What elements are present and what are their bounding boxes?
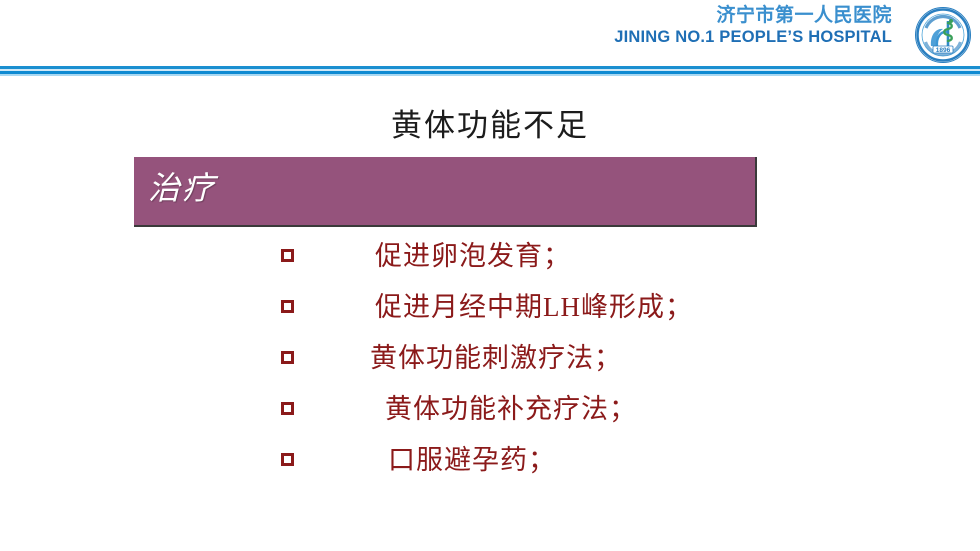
list-item: 黄体功能刺激疗法； — [0, 338, 980, 389]
hospital-name-english: JINING NO.1 PEOPLE’S HOSPITAL — [614, 29, 892, 46]
list-item: 黄体功能补充疗法； — [0, 389, 980, 440]
list-item-label: 促进月经中期LH峰形成； — [375, 287, 693, 327]
treatment-list: 促进卵泡发育； 促进月经中期LH峰形成； 黄体功能刺激疗法； 黄体功能补充疗法；… — [0, 236, 980, 491]
list-item: 口服避孕药； — [0, 440, 980, 491]
list-item-label: 黄体功能刺激疗法； — [370, 338, 622, 378]
treatment-section-banner: 治疗 — [134, 157, 757, 227]
hospital-name-chinese: 济宁市第一人民医院 — [614, 6, 892, 26]
header-divider-rules — [0, 64, 980, 78]
square-bullet-icon — [281, 402, 294, 415]
list-item: 促进卵泡发育； — [0, 236, 980, 287]
hospital-brand: 济宁市第一人民医院 JINING NO.1 PEOPLE’S HOSPITAL — [614, 6, 892, 46]
treatment-banner-label: 治疗 — [148, 163, 216, 209]
list-item-label: 黄体功能补充疗法； — [385, 389, 637, 429]
list-item: 促进月经中期LH峰形成； — [0, 287, 980, 338]
rule-line-faint — [0, 74, 980, 76]
slide-title: 黄体功能不足 — [0, 100, 980, 145]
square-bullet-icon — [281, 249, 294, 262]
square-bullet-icon — [281, 351, 294, 364]
hospital-seal-logo: 1896 — [914, 6, 972, 64]
slide-header: 济宁市第一人民医院 JINING NO.1 PEOPLE’S HOSPITAL … — [0, 0, 980, 66]
list-item-label: 促进卵泡发育； — [375, 236, 571, 276]
square-bullet-icon — [281, 453, 294, 466]
square-bullet-icon — [281, 300, 294, 313]
logo-year-text: 1896 — [936, 47, 951, 54]
list-item-label: 口服避孕药； — [388, 440, 556, 480]
